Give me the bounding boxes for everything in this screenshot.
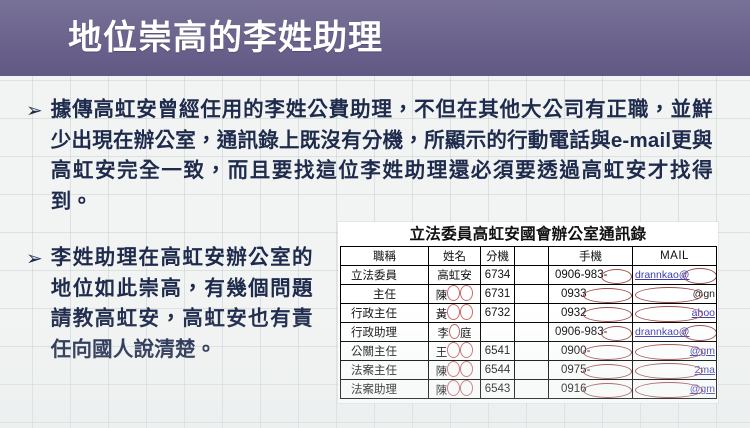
email-visible-suffix[interactable]: @gm <box>690 342 715 360</box>
phone-redaction-ellipse <box>583 288 632 303</box>
bullet-paragraph-1-text: 據傳高虹安曾經任用的李姓公費助理，不但在其他大公司有正職，並鮮少出現在辦公室，通… <box>51 95 713 217</box>
name-visible-part: 王 <box>436 347 448 359</box>
cell-blank <box>515 342 549 361</box>
cell-email: drannkao@ <box>633 323 717 342</box>
cell-name: 陳 <box>429 285 481 304</box>
bullet-paragraph-1: ➢ 據傳高虹安曾經任用的李姓公費助理，不但在其他大公司有正職，並鮮少出現在辦公室… <box>26 95 726 217</box>
table-row: 主任陳67310933@gn <box>341 285 717 304</box>
name-redaction-circle <box>447 361 460 377</box>
name-redaction-circle <box>447 285 460 301</box>
name-visible-part: 陳 <box>436 290 448 302</box>
name-redaction-circle <box>460 380 473 396</box>
col-header-blank <box>515 247 549 266</box>
table-row: 行政主任黃67320932ahoo <box>341 304 717 323</box>
cell-name: 陳 <box>429 361 481 380</box>
name-visible-suffix: 庭 <box>460 328 472 340</box>
table-header-row: 職稱 姓名 分機 手機 MAIL <box>341 247 717 266</box>
name-redaction-circle <box>447 380 460 396</box>
cell-mobile-phone: 0916 <box>549 380 633 399</box>
cell-email: ahoo <box>633 304 717 323</box>
phone-visible-part: 0906-983- <box>555 326 607 338</box>
name-redaction-circle <box>447 342 460 358</box>
cell-mobile-phone: 0906-983- <box>549 323 633 342</box>
cell-job-title: 公關主任 <box>341 342 429 361</box>
cell-blank <box>515 323 549 342</box>
cell-extension <box>481 323 515 342</box>
name-redaction-circle <box>460 304 473 320</box>
cell-extension: 6544 <box>481 361 515 380</box>
contact-table-body: 立法委員高虹安67340906-983-drannkao@主任陳67310933… <box>341 266 717 399</box>
bullet-arrow-icon: ➢ <box>26 95 43 125</box>
contact-table: 職稱 姓名 分機 手機 MAIL 立法委員高虹安67340906-983-dra… <box>340 246 717 399</box>
table-row: 立法委員高虹安67340906-983-drannkao@ <box>341 266 717 285</box>
cell-blank <box>515 380 549 399</box>
cell-mobile-phone: 0906-983- <box>549 266 633 285</box>
name-redaction-circle <box>460 285 473 301</box>
page-title: 地位崇高的李姓助理 <box>68 15 383 61</box>
col-header-title: 職稱 <box>341 247 429 266</box>
name-redaction-circle <box>460 342 473 358</box>
presentation-slide: 地位崇高的李姓助理 ➢ 據傳高虹安曾經任用的李姓公費助理，不但在其他大公司有正職… <box>0 0 750 428</box>
name-redaction-circle <box>447 304 460 320</box>
contact-table-title: 立法委員高虹安國會辦公室通訊錄 <box>338 222 718 246</box>
cell-email: @gm <box>633 380 717 399</box>
bullet-paragraph-2: ➢ 李姓助理在高虹安辦公室的地位如此崇高，有幾個問題請教高虹安，高虹安也有責任向… <box>26 243 326 365</box>
name-visible-part: 陳 <box>436 385 448 397</box>
name-redaction-circle <box>449 324 460 339</box>
cell-extension: 6541 <box>481 342 515 361</box>
col-header-phone: 手機 <box>549 247 633 266</box>
cell-name: 李庭 <box>429 323 481 342</box>
cell-email: drannkao@ <box>633 266 717 285</box>
cell-job-title: 行政助理 <box>341 323 429 342</box>
phone-redaction-ellipse <box>583 364 632 379</box>
email-visible-suffix[interactable]: 2ma <box>695 361 715 379</box>
phone-visible-part: 0900- <box>561 345 590 357</box>
table-row: 法案主任陳65440975-2ma <box>341 361 717 380</box>
phone-redaction-ellipse <box>583 345 632 360</box>
name-visible-part: 高虹安 <box>437 270 472 282</box>
table-row: 公關主任王65410900-@gm <box>341 342 717 361</box>
phone-visible-part: 0932 <box>561 307 587 319</box>
cell-job-title: 法案主任 <box>341 361 429 380</box>
cell-email: @gm <box>633 342 717 361</box>
cell-job-title: 主任 <box>341 285 429 304</box>
email-visible-prefix[interactable]: drannkao@ <box>635 266 689 284</box>
phone-visible-part: 0933 <box>561 288 587 300</box>
email-visible-suffix[interactable]: @gm <box>690 380 715 398</box>
table-row: 法案助理陳65430916@gm <box>341 380 717 399</box>
email-redaction-ellipse <box>635 363 703 379</box>
email-visible-prefix[interactable]: drannkao@ <box>635 323 689 341</box>
table-row: 行政助理李庭0906-983-drannkao@ <box>341 323 717 342</box>
cell-job-title: 行政主任 <box>341 304 429 323</box>
cell-blank <box>515 266 549 285</box>
cell-blank <box>515 304 549 323</box>
cell-job-title: 立法委員 <box>341 266 429 285</box>
phone-visible-part: 0916 <box>561 383 587 395</box>
cell-mobile-phone: 0975- <box>549 361 633 380</box>
phone-redaction-ellipse <box>583 383 632 398</box>
cell-extension: 6734 <box>481 266 515 285</box>
cell-name: 陳 <box>429 380 481 399</box>
name-redaction-circle <box>460 361 473 377</box>
cell-blank <box>515 361 549 380</box>
cell-email: @gn <box>633 285 717 304</box>
bullet-arrow-icon: ➢ <box>26 243 43 273</box>
cell-mobile-phone: 0932 <box>549 304 633 323</box>
email-visible-suffix[interactable]: ahoo <box>692 304 715 322</box>
cell-email: 2ma <box>633 361 717 380</box>
cell-mobile-phone: 0900- <box>549 342 633 361</box>
cell-name: 高虹安 <box>429 266 481 285</box>
slide-title-bar: 地位崇高的李姓助理 <box>0 0 750 76</box>
name-visible-part: 陳 <box>436 366 448 378</box>
cell-extension: 6732 <box>481 304 515 323</box>
name-visible-part: 黃 <box>436 309 448 321</box>
cell-name: 王 <box>429 342 481 361</box>
col-header-ext: 分機 <box>481 247 515 266</box>
col-header-mail: MAIL <box>633 247 717 266</box>
cell-extension: 6731 <box>481 285 515 304</box>
email-visible-suffix[interactable]: @gn <box>693 285 715 303</box>
cell-name: 黃 <box>429 304 481 323</box>
phone-visible-part: 0906-983- <box>555 269 607 281</box>
phone-visible-part: 0975- <box>561 364 590 376</box>
cell-extension: 6543 <box>481 380 515 399</box>
col-header-name: 姓名 <box>429 247 481 266</box>
name-visible-part: 李 <box>438 328 450 340</box>
contact-directory-screenshot: 立法委員高虹安國會辦公室通訊錄 職稱 姓名 分機 手機 MAIL 立法委員高虹安… <box>338 222 718 403</box>
cell-blank <box>515 285 549 304</box>
cell-job-title: 法案助理 <box>341 380 429 399</box>
phone-redaction-ellipse <box>583 307 632 322</box>
cell-mobile-phone: 0933 <box>549 285 633 304</box>
bullet-paragraph-2-text: 李姓助理在高虹安辦公室的地位如此崇高，有幾個問題請教高虹安，高虹安也有責任向國人… <box>51 243 313 365</box>
